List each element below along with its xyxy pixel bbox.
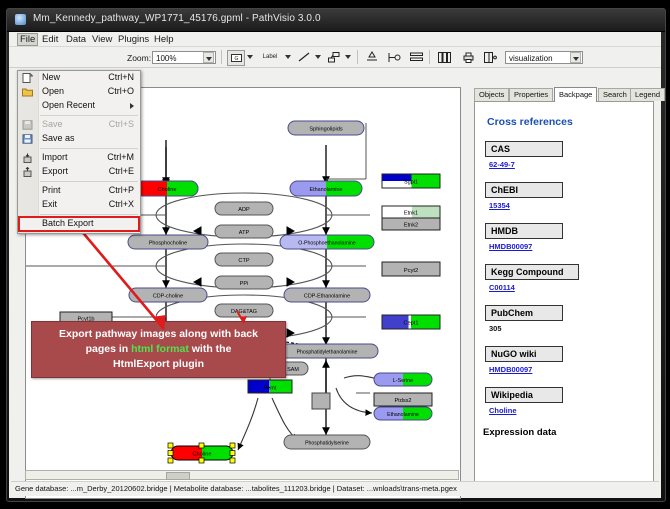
svg-text:Phosphatidylserine: Phosphatidylserine — [305, 441, 349, 447]
print-tool-button[interactable] — [461, 50, 475, 64]
svg-text:SAM: SAM — [287, 367, 299, 373]
xref-cas: CAS 62-49-7 — [485, 139, 653, 169]
import-icon — [22, 153, 33, 163]
tab-legend[interactable]: Legend — [630, 88, 665, 101]
xref-db-label: Wikipedia — [485, 387, 563, 403]
menu-item-export[interactable]: Export Ctrl+E — [18, 165, 140, 179]
metabolite-node-atp[interactable]: ATP — [215, 225, 273, 238]
menu-bar: File Edit Data View Plugins Help — [9, 32, 661, 47]
client-area: File Edit Data View Plugins Help Zoom: 1… — [9, 32, 661, 498]
xref-value-link[interactable]: HMDB00097 — [489, 242, 653, 251]
genenode-dropdown-icon[interactable] — [247, 55, 253, 59]
xref-value-link[interactable]: C00114 — [489, 283, 653, 292]
xref-wikipedia: Wikipedia Choline — [485, 385, 653, 415]
line-dropdown-icon[interactable] — [315, 55, 321, 59]
svg-text:PPi: PPi — [240, 281, 249, 287]
menu-separator — [40, 214, 138, 215]
gene-node-etnk1[interactable]: Etnk1 — [382, 206, 440, 218]
label-tool-text: Label — [263, 54, 278, 60]
zoom-label: Zoom: — [127, 53, 151, 63]
open-folder-icon — [22, 87, 33, 97]
title-bar: Mm_Kennedy_pathway_WP1771_45176.gpml - P… — [7, 9, 665, 32]
menu-view[interactable]: View — [89, 33, 115, 46]
menu-separator — [40, 148, 138, 149]
menu-label: Import — [42, 152, 68, 162]
menu-file[interactable]: File — [17, 33, 38, 46]
xref-value-link[interactable]: 15354 — [489, 201, 653, 210]
label-tool-button[interactable]: Label — [259, 50, 281, 64]
svg-text:Choline: Choline — [158, 187, 177, 193]
backpage-panel: Cross references CAS 62-49-7 ChEBI 15354… — [474, 101, 654, 495]
menu-item-open[interactable]: Open Ctrl+O — [18, 85, 140, 99]
metabolite-node-sphingolipids[interactable]: Sphingolipids — [288, 121, 364, 135]
xref-value-link[interactable]: 62-49-7 — [489, 160, 653, 169]
menu-accel: Ctrl+X — [109, 199, 134, 209]
cross-references-heading: Cross references — [487, 116, 653, 128]
svg-text:Phosphocholine: Phosphocholine — [149, 241, 187, 247]
tab-properties[interactable]: Properties — [509, 88, 553, 101]
menu-plugins[interactable]: Plugins — [115, 33, 152, 46]
menu-item-batch-export[interactable]: Batch Export — [19, 217, 139, 231]
svg-text:Ethanolamine: Ethanolamine — [387, 412, 419, 418]
menu-accel: Ctrl+E — [109, 166, 134, 176]
metabolite-node-phosphocholine[interactable]: Phosphocholine — [128, 235, 208, 249]
metabolite-node-ethanolamine-bot[interactable]: Ethanolamine — [374, 407, 432, 420]
annotation-line3: HtmlExport plugin — [113, 358, 204, 370]
shape-dropdown-icon[interactable] — [345, 55, 351, 59]
annotation-line2a: pages in — [86, 343, 132, 355]
xref-value: 305 — [489, 324, 653, 333]
tab-objects[interactable]: Objects — [474, 88, 509, 101]
menu-accel: Ctrl+M — [107, 152, 134, 162]
ptdss2-edges — [336, 376, 374, 413]
canvas-horizontal-scrollbar[interactable] — [25, 470, 459, 480]
menu-accel: Ctrl+P — [109, 185, 134, 195]
tab-search[interactable]: Search — [598, 88, 632, 101]
visualization-value: visualization — [509, 54, 553, 63]
zoom-combo[interactable]: 100% — [152, 51, 216, 64]
svg-text:Choline: Choline — [193, 452, 212, 458]
svg-text:G: G — [234, 56, 238, 62]
svg-text:O-Phosphoethanolamine: O-Phosphoethanolamine — [298, 241, 356, 247]
annotation-callout: Export pathway images along with back pa… — [31, 321, 286, 378]
xref-chebi: ChEBI 15354 — [485, 180, 653, 210]
menu-item-open-recent[interactable]: Open Recent — [18, 99, 140, 113]
menu-label: Batch Export — [42, 218, 94, 228]
xref-value-link[interactable]: Choline — [489, 406, 653, 415]
menu-label: Open — [42, 86, 64, 96]
pathvisio-app-icon — [15, 14, 26, 25]
gene-label: Ptdss2 — [394, 398, 411, 404]
svg-text:CDP-choline: CDP-choline — [153, 294, 183, 300]
gene-node-ptdss2[interactable]: Ptdss2 — [374, 393, 432, 406]
menu-item-save-as[interactable]: Save as — [18, 132, 140, 146]
shape-tool-button[interactable] — [327, 50, 341, 64]
menu-help[interactable]: Help — [151, 33, 177, 46]
menu-separator — [40, 181, 138, 182]
gene-label: Sgpl1 — [404, 180, 418, 186]
gene-node-etnk2[interactable]: Etnk2 — [382, 218, 440, 230]
chevron-down-icon[interactable] — [203, 52, 214, 63]
svg-text:L-Serine: L-Serine — [393, 378, 413, 384]
metabolite-node-phosphatidylserine[interactable]: Phosphatidylserine — [284, 435, 370, 449]
toolbar: Zoom: 100% G Label — [9, 47, 661, 68]
menu-label: Export — [42, 166, 68, 176]
gene-label: Cept1 — [404, 321, 419, 327]
metabolite-node-cdp-ethanolamine[interactable]: CDP-Ethanolamine — [284, 288, 370, 302]
metabolite-node-dag-tag[interactable]: DAG&TAG — [215, 304, 273, 317]
layout-tool-button[interactable] — [437, 50, 451, 64]
align-tool-button[interactable] — [365, 50, 379, 64]
xref-db-label: ChEBI — [485, 182, 563, 198]
export-icon — [22, 167, 33, 177]
line-tool-button[interactable] — [297, 50, 311, 64]
svg-text:Sphingolipids: Sphingolipids — [309, 127, 342, 133]
expression-data-heading: Expression data — [483, 427, 653, 438]
menu-item-import[interactable]: Import Ctrl+M — [18, 151, 140, 165]
gene-node-cept1[interactable]: Cept1 — [382, 315, 440, 329]
menu-label: Exit — [42, 199, 57, 209]
metabolite-node-ethanolamine-top[interactable]: Ethanolamine — [290, 181, 362, 196]
file-menu-dropdown[interactable]: New Ctrl+N Open Ctrl+O Open Recent — [17, 70, 141, 234]
right-dock: Objects Properties Backpage Search Legen… — [464, 87, 660, 497]
stack-tool-button[interactable] — [409, 50, 423, 64]
save-disk-icon — [22, 120, 33, 130]
svg-text:Phosphatidylethanolamine: Phosphatidylethanolamine — [297, 350, 358, 356]
menu-separator — [40, 115, 138, 116]
screenshot-root: Mm_Kennedy_pathway_WP1771_45176.gpml - P… — [0, 0, 670, 509]
svg-text:DAG&TAG: DAG&TAG — [231, 309, 257, 315]
menu-item-exit[interactable]: Exit Ctrl+X — [18, 198, 140, 212]
menu-accel: Ctrl+O — [108, 86, 134, 96]
xref-kegg-compound: Kegg Compound C00114 — [485, 262, 653, 292]
label-dropdown-icon[interactable] — [285, 55, 291, 59]
menu-item-save: Save Ctrl+S — [18, 118, 140, 132]
xref-nugo-wiki: NuGO wiki HMDB00097 — [485, 344, 653, 374]
zoom-value: 100% — [156, 54, 176, 63]
metabolite-node-ppi[interactable]: PPi — [215, 276, 273, 289]
svg-text:CDP-Ethanolamine: CDP-Ethanolamine — [304, 294, 350, 300]
menu-label: Save — [42, 119, 63, 129]
menu-accel: Ctrl+S — [109, 119, 134, 129]
xref-db-label: HMDB — [485, 223, 563, 239]
gene-node-pemt[interactable]: Pemt — [248, 380, 292, 393]
xref-hmdb: HMDB HMDB00097 — [485, 221, 653, 251]
menu-label: Print — [42, 185, 61, 195]
metabolite-node-choline-top[interactable]: Choline — [136, 181, 198, 196]
xref-pubchem: PubChem 305 — [485, 303, 653, 333]
menu-label: New — [42, 72, 60, 82]
group-tool-button[interactable] — [387, 50, 401, 64]
xref-db-label: PubChem — [485, 305, 563, 321]
svg-text:ADP: ADP — [238, 207, 250, 213]
metabolite-node-choline-bot[interactable]: Choline — [168, 443, 235, 463]
status-bar: Gene database: ...m_Derby_20120602.bridg… — [11, 481, 659, 496]
annotation-line1: Export pathway images along with back — [59, 328, 258, 340]
sidebar-toggle-button[interactable] — [483, 50, 497, 64]
svg-text:CTP: CTP — [238, 258, 249, 264]
chevron-down-icon[interactable] — [570, 52, 581, 63]
xref-db-label: Kegg Compound — [485, 264, 579, 280]
scrollbar-thumb[interactable] — [166, 472, 190, 480]
dock-tabs: Objects Properties Backpage Search Legen… — [474, 87, 660, 101]
save-as-icon — [22, 134, 33, 144]
new-file-icon — [22, 73, 33, 83]
menu-accel: Ctrl+N — [108, 72, 134, 82]
metabolite-node-phosphatidylethanolamine[interactable]: Phosphatidylethanolamine — [276, 344, 378, 358]
gene-label: Etnk2 — [404, 223, 418, 229]
annotation-line2b: with the — [189, 343, 232, 355]
gene-label: Pcyt2 — [404, 268, 419, 274]
gene-node-chka[interactable] — [312, 393, 330, 409]
xref-value-link[interactable]: HMDB00097 — [489, 365, 653, 374]
metabolite-node-adp[interactable]: ADP — [215, 202, 273, 215]
metabolite-node-cdp-choline[interactable]: CDP-choline — [129, 288, 207, 302]
gene-label: Pemt — [264, 386, 277, 392]
menu-label: Save as — [42, 133, 75, 143]
menu-label: Open Recent — [42, 100, 95, 110]
status-text: Gene database: ...m_Derby_20120602.bridg… — [15, 484, 457, 493]
menu-data[interactable]: Data — [63, 33, 89, 46]
tab-backpage[interactable]: Backpage — [554, 87, 597, 102]
gene-node-pcyt2[interactable]: Pcyt2 — [382, 262, 440, 276]
gene-node-sgpl1[interactable]: Sgpl1 — [382, 174, 440, 188]
metabolite-node-o-phosphoethanolamine[interactable]: O-Phosphoethanolamine — [280, 235, 374, 249]
metabolite-nodes[interactable]: Sphingolipids Choline — [118, 121, 432, 463]
svg-text:Ethanolamine: Ethanolamine — [310, 187, 343, 193]
annotation-highlight: html format — [131, 343, 189, 355]
menu-item-print[interactable]: Print Ctrl+P — [18, 184, 140, 198]
menu-item-new[interactable]: New Ctrl+N — [18, 71, 140, 85]
xref-db-label: CAS — [485, 141, 563, 157]
visualization-combo[interactable]: visualization — [505, 51, 583, 64]
application-window: Mm_Kennedy_pathway_WP1771_45176.gpml - P… — [6, 8, 666, 502]
metabolite-node-l-serine[interactable]: L-Serine — [374, 373, 432, 386]
xref-db-label: NuGO wiki — [485, 346, 563, 362]
window-title: Mm_Kennedy_pathway_WP1771_45176.gpml - P… — [33, 13, 321, 24]
gene-label: Etnk1 — [404, 211, 418, 217]
menu-edit[interactable]: Edit — [39, 33, 61, 46]
genenode-tool-button[interactable]: G — [227, 50, 245, 66]
annotation-text: Export pathway images along with back pa… — [51, 327, 266, 372]
chevron-right-icon — [130, 103, 134, 109]
metabolite-node-ctp[interactable]: CTP — [215, 253, 273, 266]
svg-text:ATP: ATP — [239, 230, 250, 236]
